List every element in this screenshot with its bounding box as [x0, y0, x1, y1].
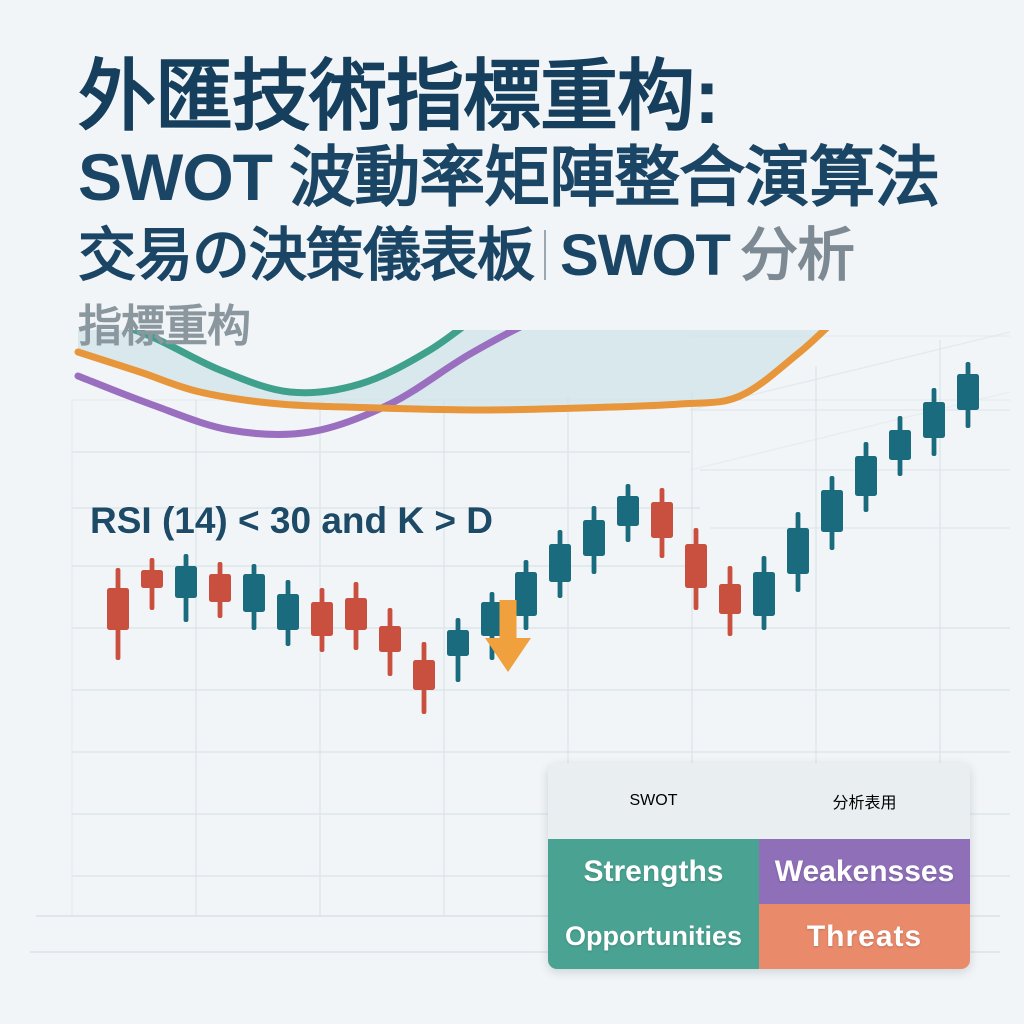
headline-line-3: 交易の決策儀表板 SWOT 分析	[78, 218, 998, 293]
headline-block: 外匯技術指標重构: SWOT 波動率矩陣整合演算法 交易の決策儀表板 SWOT …	[78, 56, 998, 356]
swot-cell-threats[interactable]: Threats	[759, 904, 970, 969]
headline-divider	[544, 230, 546, 280]
headline-line-3-gray: 分析	[740, 218, 854, 293]
rsi-condition-annotation: RSI (14) < 30 and K > D	[90, 500, 493, 542]
swot-header-left: SWOT	[548, 763, 759, 839]
swot-cell-opportunities[interactable]: Opportunities	[548, 904, 759, 969]
headline-line-3-main: 交易の決策儀表板	[78, 218, 534, 293]
swot-matrix-table[interactable]: SWOT 分析表用 Strengths Weakensses Opportuni…	[548, 763, 970, 969]
swot-header-row: SWOT 分析表用	[548, 763, 970, 839]
swot-header-right: 分析表用	[759, 763, 970, 839]
headline-line-4: 指標重构	[78, 297, 998, 356]
headline-line-3-swot: SWOT	[560, 218, 730, 293]
poster-canvas: 外匯技術指標重构: SWOT 波動率矩陣整合演算法 交易の決策儀表板 SWOT …	[0, 0, 1024, 1024]
swot-row-2: Opportunities Threats	[548, 904, 970, 969]
swot-row-1: Strengths Weakensses	[548, 839, 970, 904]
swot-cell-strengths[interactable]: Strengths	[548, 839, 759, 904]
headline-line-2: SWOT 波動率矩陣整合演算法	[78, 137, 998, 218]
headline-line-1: 外匯技術指標重构:	[78, 56, 998, 137]
swot-cell-weaknesses[interactable]: Weakensses	[759, 839, 970, 904]
